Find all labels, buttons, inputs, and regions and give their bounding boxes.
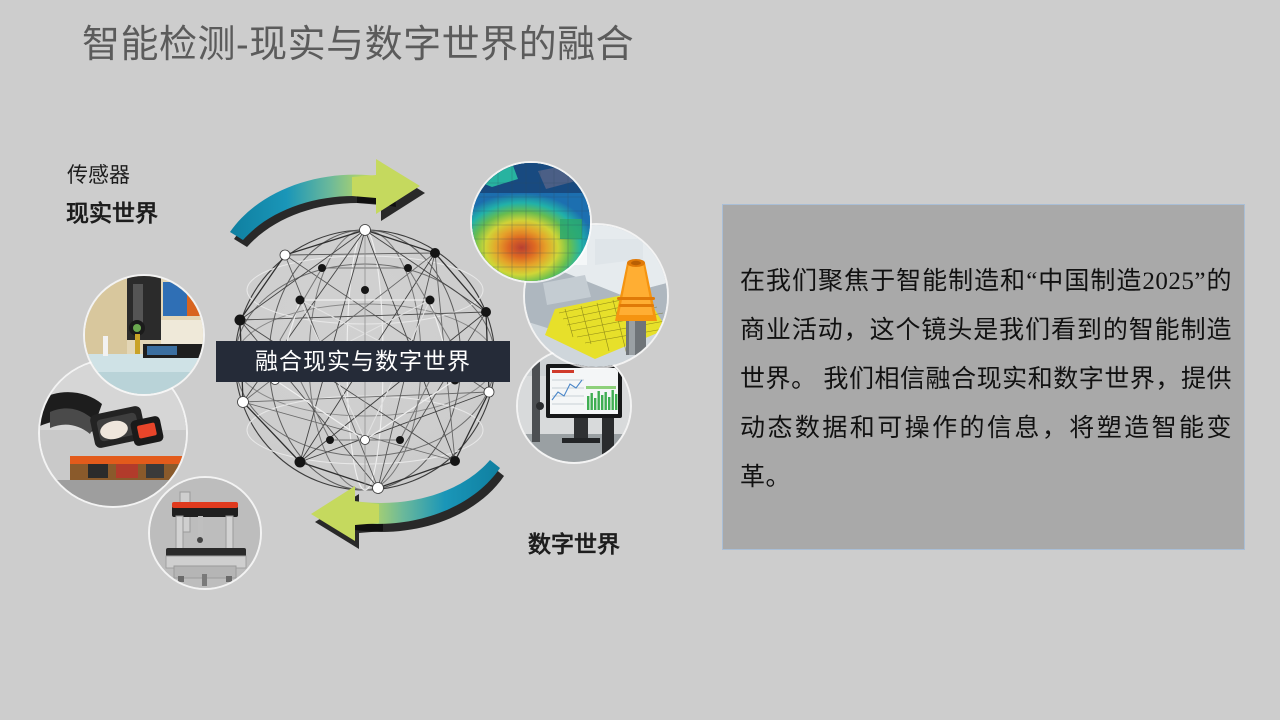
description-panel: 在我们聚焦于智能制造和“中国制造2025”的商业活动，这个镜头是我们看到的智能制… (722, 204, 1245, 550)
quality-dashboard-photo (518, 350, 630, 462)
cmm-lab-photo (85, 276, 203, 394)
slide-canvas: 智能检测-现实与数字世界的融合 (0, 0, 1280, 720)
cmm-machine-photo (150, 478, 260, 588)
description-paragraph: 在我们聚焦于智能制造和“中国制造2025”的商业活动，这个镜头是我们看到的智能制… (740, 257, 1232, 502)
fea-simulation-photo (472, 163, 590, 281)
center-caption-banner: 融合现实与数字世界 (216, 341, 510, 382)
